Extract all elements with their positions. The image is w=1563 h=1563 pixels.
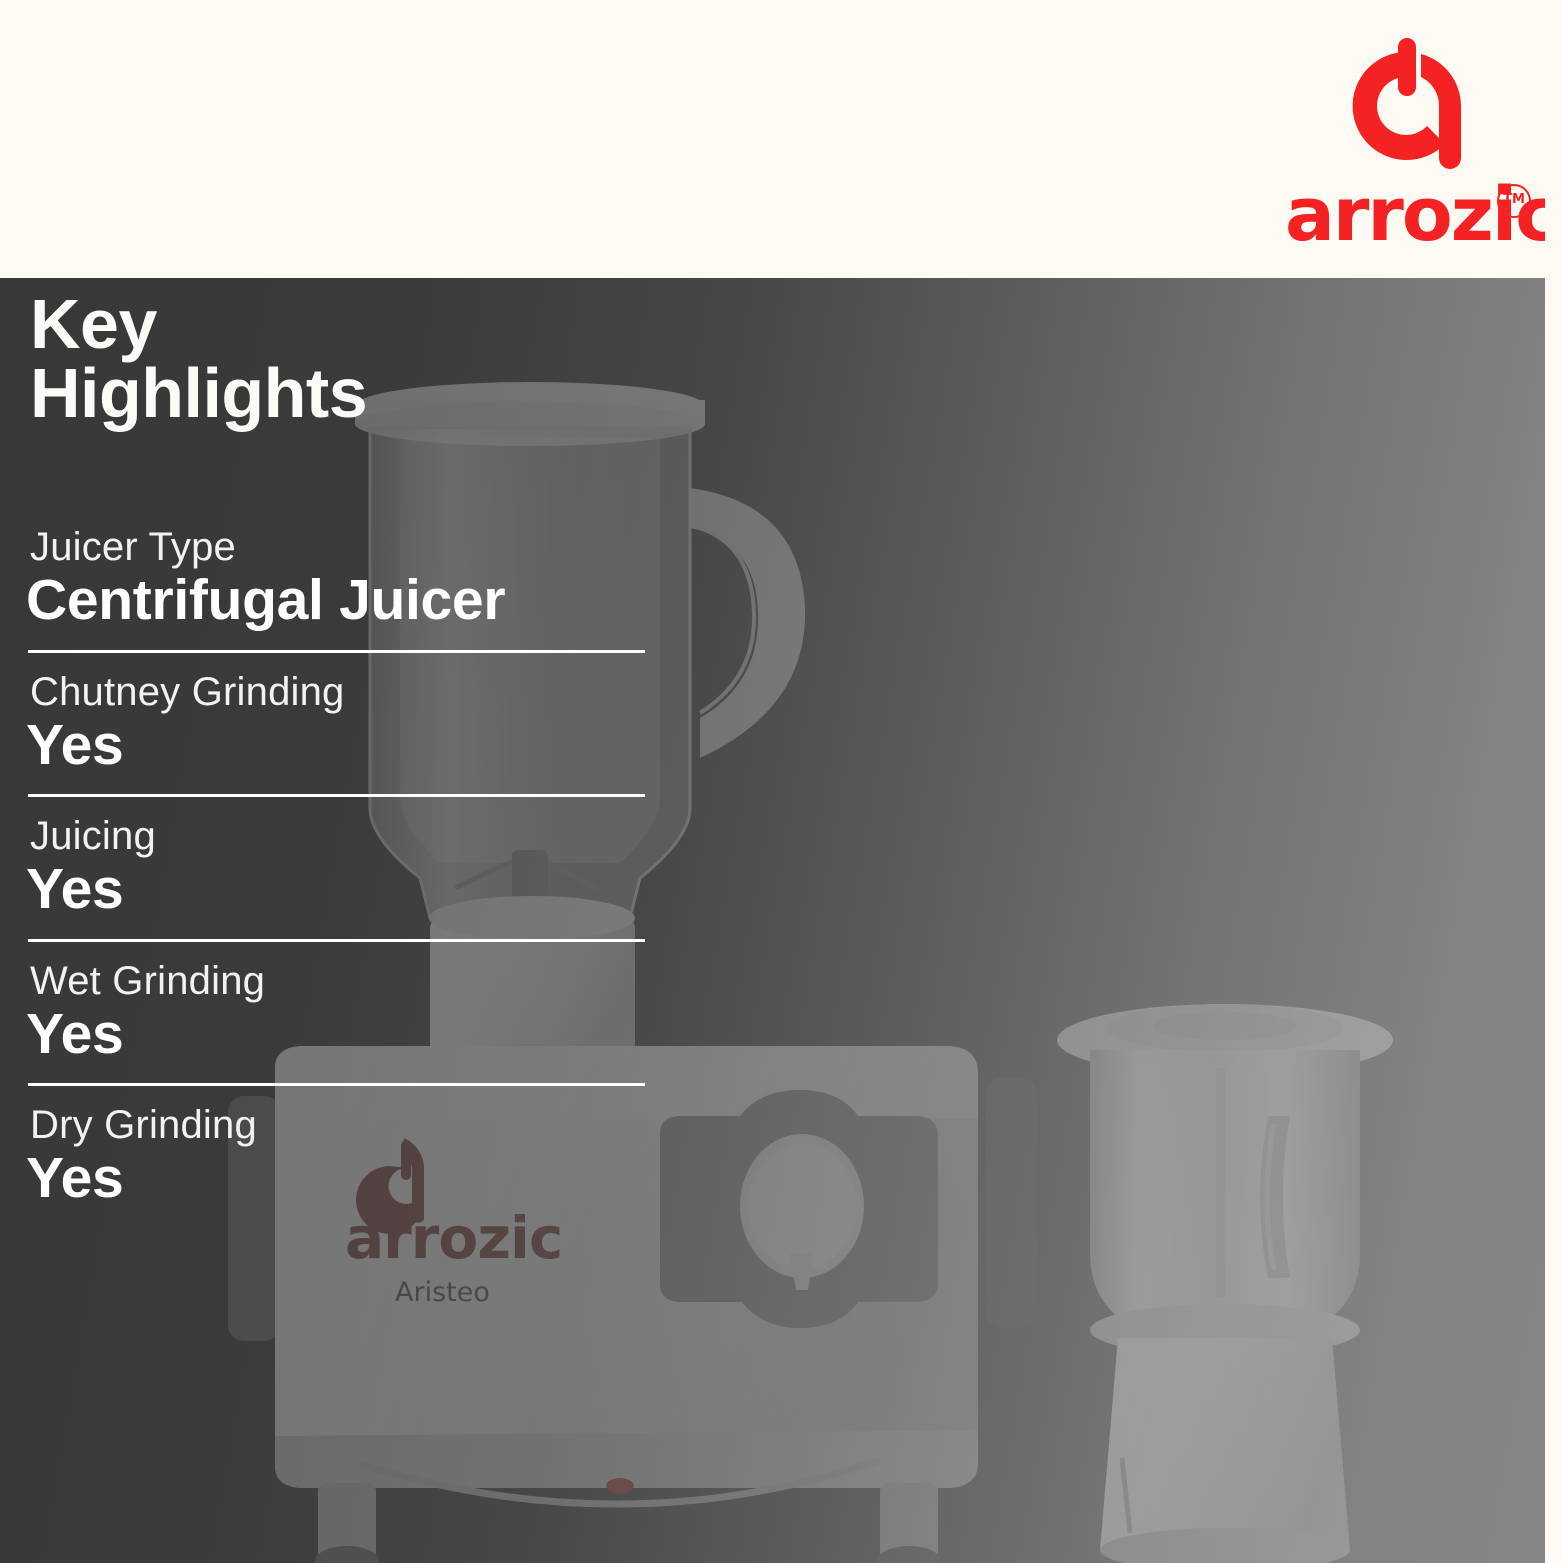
spec-row: Juicer Type Centrifugal Juicer: [0, 526, 700, 653]
spec-row: Juicing Yes: [0, 815, 700, 942]
spec-value: Yes: [0, 1146, 700, 1212]
spec-row: Dry Grinding Yes: [0, 1104, 700, 1212]
trademark-icon: TM: [1497, 184, 1531, 218]
spec-row: Chutney Grinding Yes: [0, 671, 700, 798]
spec-divider: [28, 939, 645, 942]
arrozic-power-a-icon: [1327, 34, 1487, 176]
spec-divider: [28, 794, 645, 797]
spec-label: Dry Grinding: [0, 1104, 700, 1146]
right-edge-strip: [1545, 0, 1563, 1563]
spec-value: Yes: [0, 857, 700, 923]
key-highlights-panel: arrozic Aristeo: [0, 278, 1563, 1563]
spec-value: Centrifugal Juicer: [0, 568, 700, 634]
spec-list: Juicer Type Centrifugal Juicer Chutney G…: [0, 526, 700, 1212]
header-band: arrozic TM: [0, 0, 1563, 278]
spec-column: Key Highlights Juicer Type Centrifugal J…: [0, 278, 700, 1563]
page-title: Key Highlights: [30, 290, 367, 427]
brand-wordmark: arrozic: [1285, 180, 1535, 250]
spec-value: Yes: [0, 1002, 700, 1068]
spec-divider: [28, 650, 645, 653]
page-title-line2: Highlights: [30, 359, 367, 428]
steel-jar-graphic: [1057, 1004, 1393, 1563]
spec-label: Juicing: [0, 815, 700, 857]
spec-label: Wet Grinding: [0, 960, 700, 1002]
spec-label: Chutney Grinding: [0, 671, 700, 713]
spec-label: Juicer Type: [0, 526, 700, 568]
spec-divider: [28, 1083, 645, 1086]
spec-value: Yes: [0, 713, 700, 779]
infographic-canvas: arrozic Aristeo: [0, 0, 1563, 1563]
spec-row: Wet Grinding Yes: [0, 960, 700, 1087]
brand-logo: arrozic TM: [1285, 34, 1535, 254]
page-title-line1: Key: [30, 290, 367, 359]
